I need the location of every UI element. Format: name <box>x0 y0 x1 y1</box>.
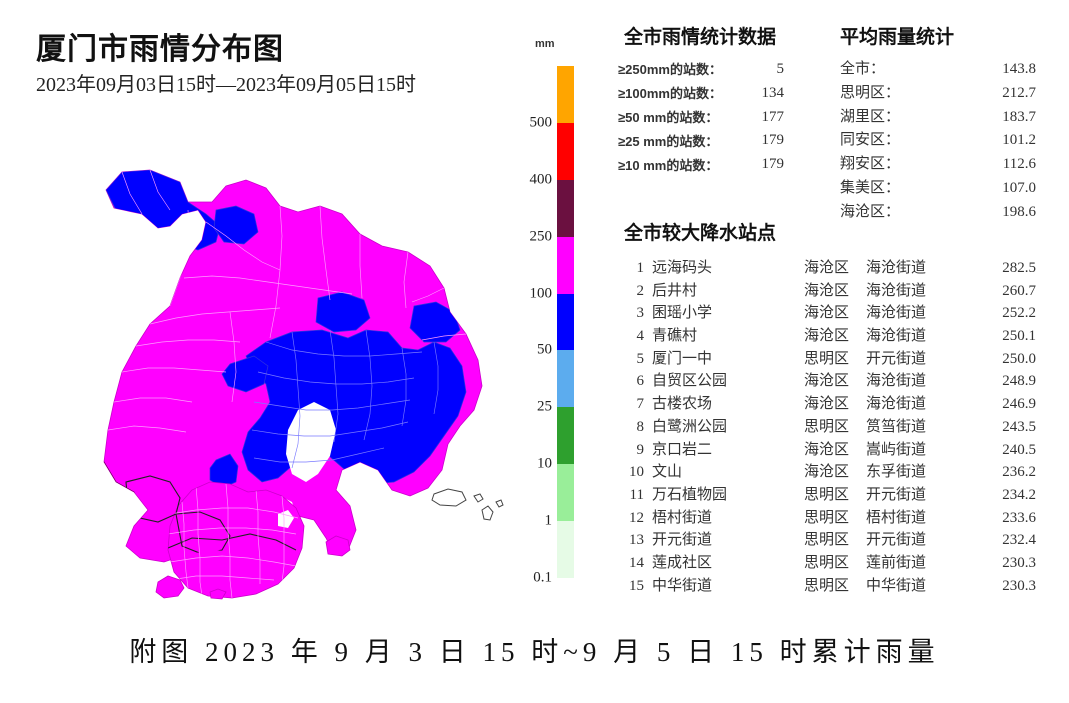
top-station-row: 14莲成社区思明区莲前街道230.3 <box>618 553 1036 576</box>
count-threshold: ≥10 mm的站数： <box>618 155 722 179</box>
top-station-row: 12梧村街道思明区梧村街道233.6 <box>618 508 1036 531</box>
rain-count-row: ≥25 mm的站数：179 <box>618 131 786 155</box>
average-area-name: 海沧区： <box>840 203 950 227</box>
station-name: 厦门一中 <box>652 349 804 372</box>
station-district: 思明区 <box>804 485 866 508</box>
station-rainfall: 252.2 <box>962 303 1036 326</box>
colorbar-tick-label: 500 <box>530 115 553 130</box>
colorbar-band <box>557 464 574 521</box>
colorbar-band <box>557 66 574 123</box>
average-area-name: 全市： <box>840 60 950 84</box>
station-name: 青礁村 <box>652 326 804 349</box>
station-district: 海沧区 <box>804 394 866 417</box>
station-rainfall: 248.9 <box>962 371 1036 394</box>
station-district: 海沧区 <box>804 303 866 326</box>
station-rank: 3 <box>618 303 652 326</box>
station-district: 海沧区 <box>804 462 866 485</box>
average-area-value: 183.7 <box>950 108 1036 132</box>
average-rainfall-row: 同安区：101.2 <box>840 131 1036 155</box>
colorbar-tick-label: 400 <box>530 172 553 187</box>
average-area-name: 湖里区： <box>840 108 950 132</box>
colorbar-tick-label: 100 <box>530 286 553 301</box>
stations-heading: 全市较大降水站点 <box>624 218 776 245</box>
rainfall-map <box>30 110 530 600</box>
top-station-row: 10文山海沧区东孚街道236.2 <box>618 462 1036 485</box>
station-rainfall: 243.5 <box>962 417 1036 440</box>
page-title: 厦门市雨情分布图 <box>36 24 284 68</box>
station-district: 思明区 <box>804 508 866 531</box>
rain-count-row: ≥100mm的站数：134 <box>618 84 786 108</box>
average-rainfall-row: 海沧区：198.6 <box>840 203 1036 227</box>
station-rainfall: 260.7 <box>962 281 1036 304</box>
station-rainfall: 234.2 <box>962 485 1036 508</box>
station-district: 思明区 <box>804 417 866 440</box>
station-name: 囷瑶小学 <box>652 303 804 326</box>
count-threshold: ≥50 mm的站数： <box>618 108 722 132</box>
top-station-row: 2后井村海沧区海沧街道260.7 <box>618 281 1036 304</box>
top-stations-body: 1远海码头海沧区海沧街道282.52后井村海沧区海沧街道260.73囷瑶小学海沧… <box>618 258 1036 598</box>
colorbar-band <box>557 407 574 464</box>
station-name: 中华街道 <box>652 576 804 599</box>
station-name: 梧村街道 <box>652 508 804 531</box>
station-rainfall: 240.5 <box>962 440 1036 463</box>
station-rank: 11 <box>618 485 652 508</box>
average-area-name: 同安区： <box>840 131 950 155</box>
station-district: 海沧区 <box>804 371 866 394</box>
average-rainfall-row: 思明区：212.7 <box>840 84 1036 108</box>
top-stations-table: 1远海码头海沧区海沧街道282.52后井村海沧区海沧街道260.73囷瑶小学海沧… <box>618 258 1036 598</box>
colorbar-unit-label: mm <box>535 38 555 50</box>
station-district: 海沧区 <box>804 440 866 463</box>
top-station-row: 4青礁村海沧区海沧街道250.1 <box>618 326 1036 349</box>
top-station-row: 3囷瑶小学海沧区海沧街道252.2 <box>618 303 1036 326</box>
station-rank: 10 <box>618 462 652 485</box>
figure-caption: 附图 2023 年 9 月 3 日 15 时~9 月 5 日 15 时累计雨量 <box>0 630 1069 669</box>
colorbar-band <box>557 123 574 180</box>
rain-count-row: ≥10 mm的站数：179 <box>618 155 786 179</box>
station-town: 海沧街道 <box>866 281 962 304</box>
station-rank: 12 <box>618 508 652 531</box>
colorbar-tick-label: 10 <box>537 457 552 472</box>
count-value: 179 <box>722 155 786 179</box>
station-rainfall: 232.4 <box>962 530 1036 553</box>
station-name: 古楼农场 <box>652 394 804 417</box>
station-name: 自贸区公园 <box>652 371 804 394</box>
station-town: 梧村街道 <box>866 508 962 531</box>
station-district: 海沧区 <box>804 258 866 281</box>
top-station-row: 8白鹭洲公园思明区筼筜街道243.5 <box>618 417 1036 440</box>
count-value: 179 <box>722 131 786 155</box>
station-town: 开元街道 <box>866 530 962 553</box>
station-rank: 13 <box>618 530 652 553</box>
colorbar-band <box>557 350 574 407</box>
station-name: 后井村 <box>652 281 804 304</box>
station-rainfall: 246.9 <box>962 394 1036 417</box>
station-district: 思明区 <box>804 576 866 599</box>
station-town: 开元街道 <box>866 485 962 508</box>
rain-counts-table: ≥250mm的站数：5≥100mm的站数：134≥50 mm的站数：177≥25… <box>618 60 786 179</box>
station-rank: 2 <box>618 281 652 304</box>
count-threshold: ≥100mm的站数： <box>618 84 722 108</box>
colorbar-band <box>557 180 574 237</box>
average-rainfall-body: 全市：143.8思明区：212.7湖里区：183.7同安区：101.2翔安区：1… <box>840 60 1036 227</box>
averages-heading: 平均雨量统计 <box>840 22 954 49</box>
average-rainfall-table: 全市：143.8思明区：212.7湖里区：183.7同安区：101.2翔安区：1… <box>840 60 1036 227</box>
station-rank: 5 <box>618 349 652 372</box>
station-rank: 1 <box>618 258 652 281</box>
station-district: 海沧区 <box>804 281 866 304</box>
counts-heading: 全市雨情统计数据 <box>624 22 776 49</box>
top-station-row: 15中华街道思明区中华街道230.3 <box>618 576 1036 599</box>
station-rainfall: 233.6 <box>962 508 1036 531</box>
top-station-row: 5厦门一中思明区开元街道250.0 <box>618 349 1036 372</box>
station-rainfall: 282.5 <box>962 258 1036 281</box>
station-town: 海沧街道 <box>866 371 962 394</box>
average-area-value: 101.2 <box>950 131 1036 155</box>
average-rainfall-row: 湖里区：183.7 <box>840 108 1036 132</box>
colorbar-tick-label: 250 <box>530 229 553 244</box>
average-rainfall-row: 全市：143.8 <box>840 60 1036 84</box>
count-threshold: ≥25 mm的站数： <box>618 131 722 155</box>
station-district: 海沧区 <box>804 326 866 349</box>
station-rainfall: 250.0 <box>962 349 1036 372</box>
station-rainfall: 236.2 <box>962 462 1036 485</box>
map-svg <box>30 110 530 600</box>
station-rainfall: 230.3 <box>962 553 1036 576</box>
average-area-value: 112.6 <box>950 155 1036 179</box>
count-threshold: ≥250mm的站数： <box>618 60 722 84</box>
rainfall-colorbar: mm 50040025010050251010.1 <box>500 30 600 590</box>
rainfall-distribution-figure: 厦门市雨情分布图 2023年09月03日15时—2023年09月05日15时 <box>0 0 1069 703</box>
average-area-name: 集美区： <box>840 179 950 203</box>
map-region-blue-northwest <box>106 170 258 250</box>
rain-count-row: ≥50 mm的站数：177 <box>618 108 786 132</box>
top-station-row: 6自贸区公园海沧区海沧街道248.9 <box>618 371 1036 394</box>
station-name: 白鹭洲公园 <box>652 417 804 440</box>
top-station-row: 13开元街道思明区开元街道232.4 <box>618 530 1036 553</box>
rain-counts-body: ≥250mm的站数：5≥100mm的站数：134≥50 mm的站数：177≥25… <box>618 60 786 179</box>
station-rank: 6 <box>618 371 652 394</box>
average-area-value: 198.6 <box>950 203 1036 227</box>
station-town: 莲前街道 <box>866 553 962 576</box>
colorbar-band <box>557 521 574 578</box>
station-town: 海沧街道 <box>866 394 962 417</box>
top-station-row: 11万石植物园思明区开元街道234.2 <box>618 485 1036 508</box>
average-rainfall-row: 集美区：107.0 <box>840 179 1036 203</box>
station-rank: 14 <box>618 553 652 576</box>
station-town: 海沧街道 <box>866 303 962 326</box>
average-area-value: 143.8 <box>950 60 1036 84</box>
station-town: 中华街道 <box>866 576 962 599</box>
count-value: 177 <box>722 108 786 132</box>
station-rank: 4 <box>618 326 652 349</box>
station-rank: 8 <box>618 417 652 440</box>
station-rainfall: 250.1 <box>962 326 1036 349</box>
colorbar-tick-label: 50 <box>537 343 552 358</box>
station-town: 东孚街道 <box>866 462 962 485</box>
station-district: 思明区 <box>804 349 866 372</box>
map-offshore-islands-outline <box>432 489 503 520</box>
station-district: 思明区 <box>804 553 866 576</box>
station-rank: 15 <box>618 576 652 599</box>
colorbar-band <box>557 237 574 294</box>
colorbar-tick-label: 25 <box>537 400 552 415</box>
top-station-row: 1远海码头海沧区海沧街道282.5 <box>618 258 1036 281</box>
colorbar-band <box>557 294 574 351</box>
colorbar-tick-label: 1 <box>545 514 553 529</box>
station-name: 莲成社区 <box>652 553 804 576</box>
page-subtitle: 2023年09月03日15时—2023年09月05日15时 <box>36 68 416 97</box>
station-town: 海沧街道 <box>866 326 962 349</box>
station-name: 文山 <box>652 462 804 485</box>
station-name: 京口岩二 <box>652 440 804 463</box>
count-value: 5 <box>722 60 786 84</box>
top-station-row: 7古楼农场海沧区海沧街道246.9 <box>618 394 1036 417</box>
average-rainfall-row: 翔安区：112.6 <box>840 155 1036 179</box>
top-station-row: 9京口岩二海沧区嵩屿街道240.5 <box>618 440 1036 463</box>
station-name: 开元街道 <box>652 530 804 553</box>
count-value: 134 <box>722 84 786 108</box>
station-town: 嵩屿街道 <box>866 440 962 463</box>
statistics-panel: 全市雨情统计数据 平均雨量统计 ≥250mm的站数：5≥100mm的站数：134… <box>612 22 1052 582</box>
average-area-name: 翔安区： <box>840 155 950 179</box>
colorbar-tick-label: 0.1 <box>533 571 552 586</box>
station-rank: 9 <box>618 440 652 463</box>
station-district: 思明区 <box>804 530 866 553</box>
average-area-name: 思明区： <box>840 84 950 108</box>
station-name: 远海码头 <box>652 258 804 281</box>
station-town: 开元街道 <box>866 349 962 372</box>
station-town: 海沧街道 <box>866 258 962 281</box>
station-rank: 7 <box>618 394 652 417</box>
average-area-value: 212.7 <box>950 84 1036 108</box>
average-area-value: 107.0 <box>950 179 1036 203</box>
station-rainfall: 230.3 <box>962 576 1036 599</box>
rain-count-row: ≥250mm的站数：5 <box>618 60 786 84</box>
colorbar-bands <box>557 66 574 578</box>
station-town: 筼筜街道 <box>866 417 962 440</box>
station-name: 万石植物园 <box>652 485 804 508</box>
